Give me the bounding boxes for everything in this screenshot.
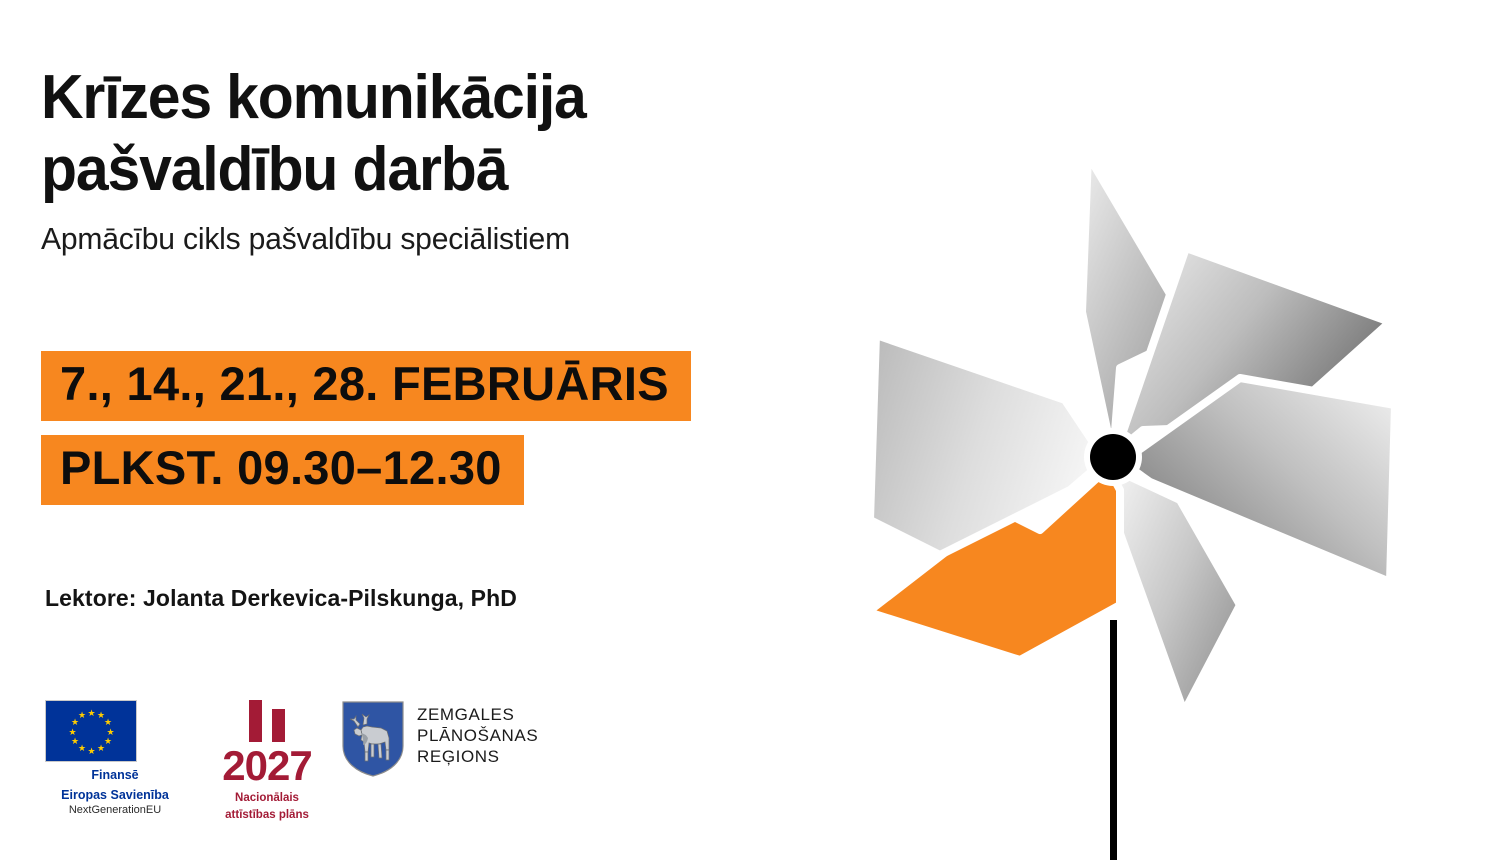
poster-canvas: Krīzes komunikācija pašvaldību darbā Apm… <box>0 0 1500 860</box>
nacionalais-attistibas-plans-logo: 2027 Nacionālais attīstības plāns <box>197 700 337 822</box>
eu-star-icon: ★ <box>104 737 112 746</box>
nap-bar-2 <box>272 709 285 742</box>
zpr-line-3: REĢIONS <box>417 746 538 767</box>
zpr-text-block: ZEMGALES PLĀNOŠANAS REĢIONS <box>417 700 538 767</box>
eu-flag-logo: ★★★★★★★★★★★★ Finansē Eiropas Savienība N… <box>45 700 195 817</box>
schedule-bars: 7., 14., 21., 28. FEBRUĀRIS PLKST. 09.30… <box>41 351 691 505</box>
pinwheel-stick <box>1110 620 1117 860</box>
zpr-line-1: ZEMGALES <box>417 704 538 725</box>
eu-flag-icon: ★★★★★★★★★★★★ <box>45 700 137 762</box>
eu-star-icon: ★ <box>88 709 96 718</box>
nap-bars-icon <box>197 700 337 742</box>
title-block: Krīzes komunikācija pašvaldību darbā Apm… <box>41 62 841 258</box>
eu-star-icon: ★ <box>78 711 86 720</box>
zemgales-planosanas-regions-logo: ZEMGALES PLĀNOŠANAS REĢIONS <box>341 700 551 778</box>
zemgale-shield-icon <box>341 700 405 778</box>
eu-star-icon: ★ <box>69 728 77 737</box>
eu-star-icon: ★ <box>97 744 105 753</box>
zpr-line-2: PLĀNOŠANAS <box>417 725 538 746</box>
eu-star-icon: ★ <box>71 737 79 746</box>
date-bar-row: 7., 14., 21., 28. FEBRUĀRIS <box>41 351 691 421</box>
eu-sub-caption: NextGenerationEU <box>45 804 185 817</box>
page-subtitle: Apmācību cikls pašvaldību speciālistiem <box>41 220 817 258</box>
eu-star-icon: ★ <box>78 744 86 753</box>
eu-star-icon: ★ <box>104 718 112 727</box>
nap-caption-line-2: attīstības plāns <box>197 808 337 822</box>
pinwheel-hub <box>1090 434 1136 480</box>
pinwheel-graphic <box>820 100 1460 860</box>
nap-year: 2027 <box>197 744 337 788</box>
time-bar-row: PLKST. 09.30–12.30 <box>41 421 691 505</box>
eu-star-icon: ★ <box>88 747 96 756</box>
page-title-line-2: pašvaldību darbā <box>41 134 801 206</box>
eu-caption-line-1: Finansē <box>45 768 185 782</box>
nap-bar-1 <box>249 700 262 742</box>
page-title-line-1: Krīzes komunikācija <box>41 62 801 134</box>
lecturer-line: Lektore: Jolanta Derkevica-Pilskunga, Ph… <box>45 585 517 612</box>
time-badge: PLKST. 09.30–12.30 <box>41 435 524 505</box>
nap-caption-line-1: Nacionālais <box>197 791 337 805</box>
eu-caption-line-2: Eiropas Savienība <box>45 788 185 802</box>
date-badge: 7., 14., 21., 28. FEBRUĀRIS <box>41 351 691 421</box>
